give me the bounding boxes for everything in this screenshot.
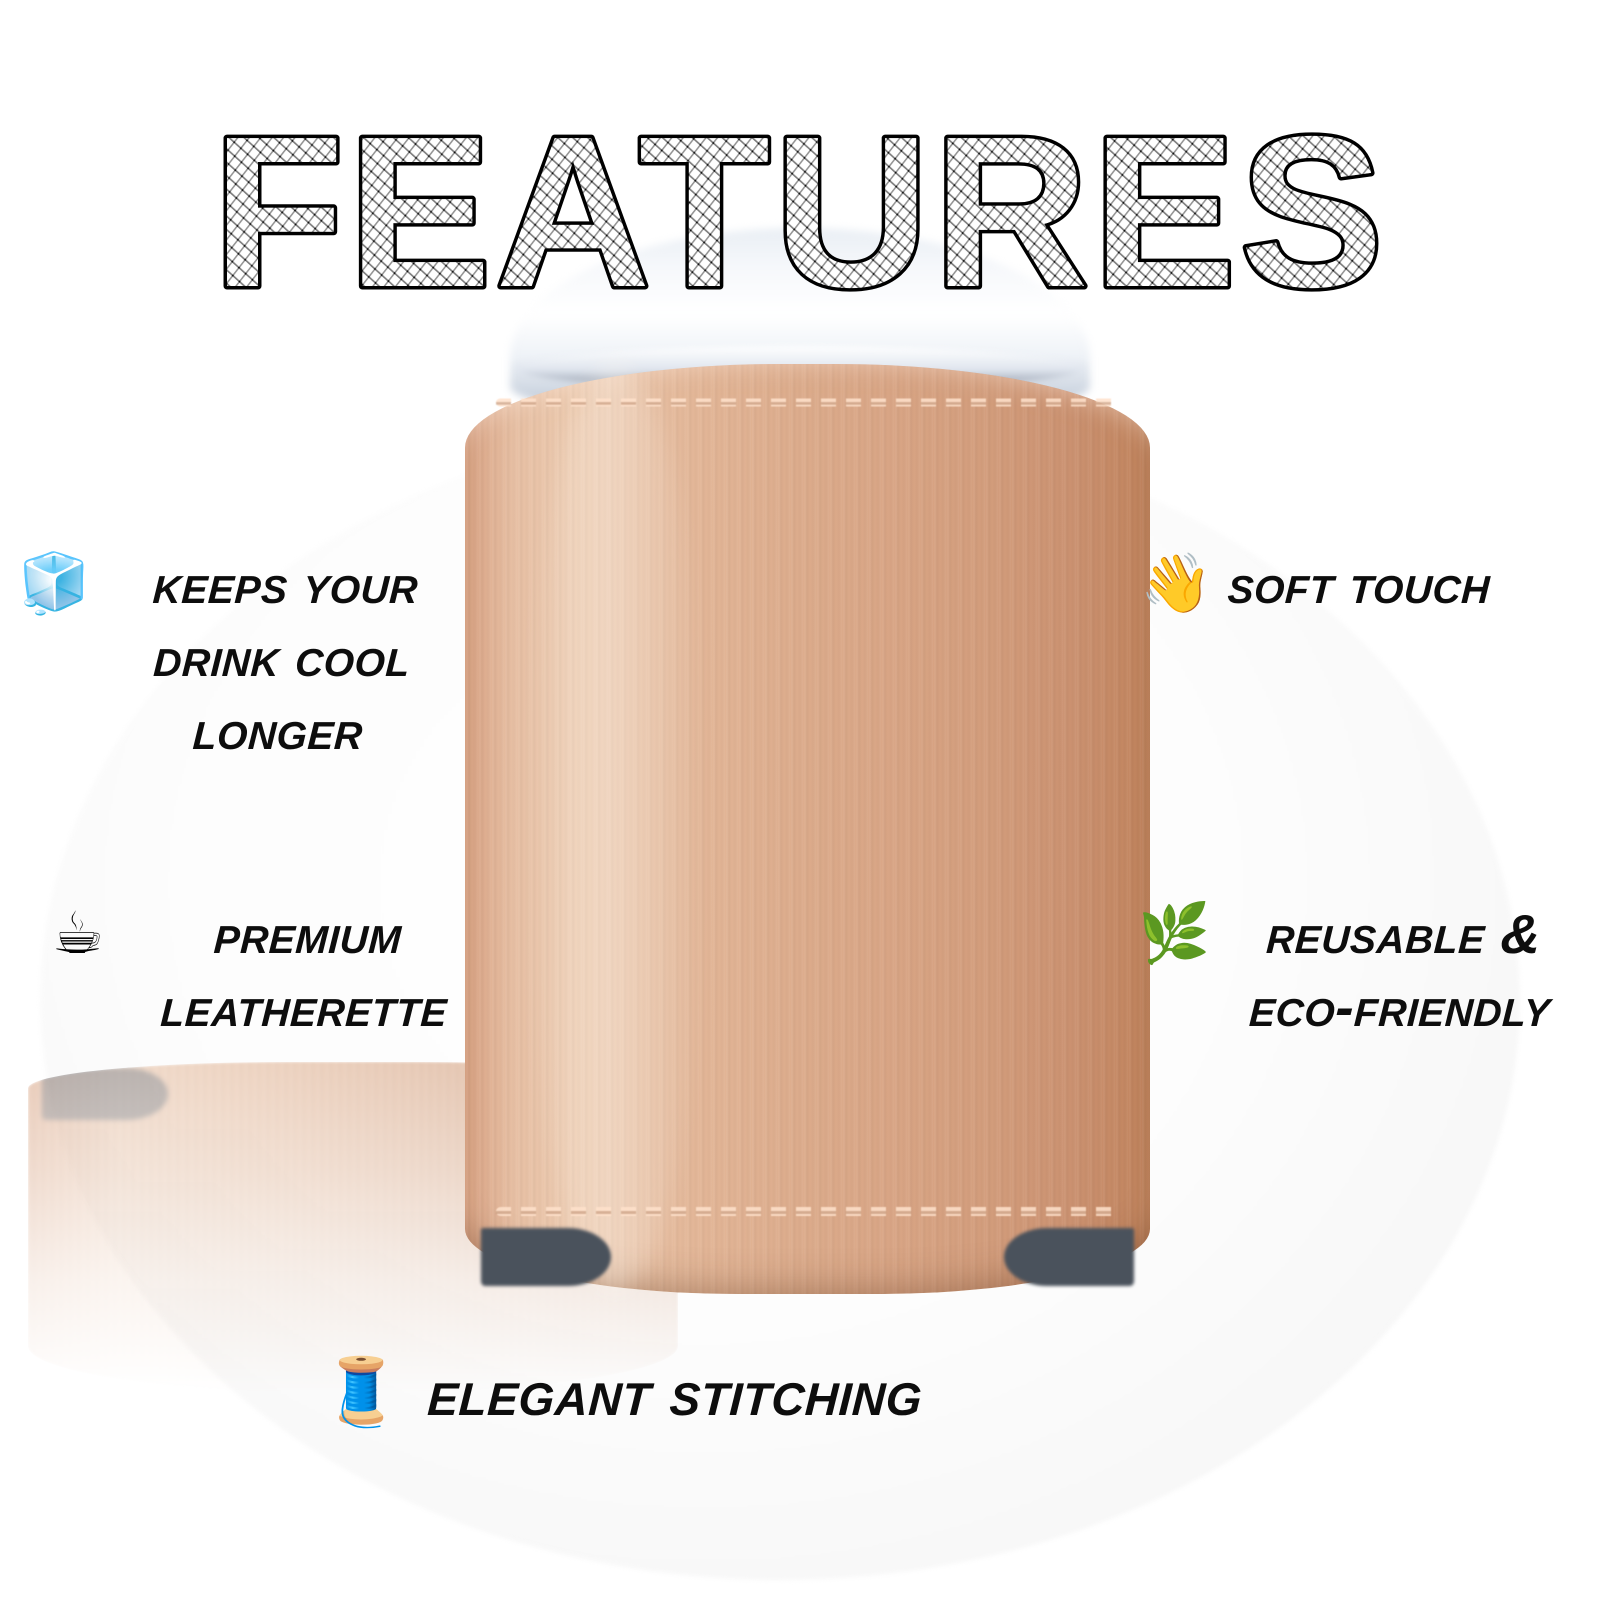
feature-label: Soft Touch (1226, 548, 1492, 621)
feature-reusable-eco-friendly: 🌿 Reusable & Eco-Friendly (1138, 898, 1578, 1044)
infographic-canvas: FEATURES FEATURES 🧊 Keeps Your Drink Coo… (0, 0, 1600, 1600)
feature-label: Premium Leatherette (116, 898, 496, 1044)
feature-premium-leatherette: ☕ Premium Leatherette (52, 898, 492, 1044)
herb-leaf-icon: 🌿 (1138, 904, 1210, 962)
feature-label: Keeps Your Drink Cool longer (100, 548, 463, 767)
bottom-stitching (496, 1207, 1119, 1216)
thread-spool-icon: 🧵 (320, 1359, 402, 1425)
top-stitching (496, 398, 1119, 406)
feature-label: Elegant Stitching (426, 1356, 924, 1429)
leatherette-body (465, 364, 1150, 1294)
reflection-pad-left (42, 1068, 168, 1120)
hot-beverage-icon: ☕ (52, 904, 104, 962)
feature-soft-touch: 👋 Soft Touch (1140, 548, 1580, 621)
can-cooler-sleeve (465, 364, 1150, 1294)
feature-keeps-drink-cool: 🧊 Keeps Your Drink Cool longer (18, 548, 458, 767)
base-pad-right (1004, 1228, 1134, 1286)
ice-cube-icon: 🧊 (18, 554, 90, 612)
feature-label: Reusable & Eco-Friendly (1222, 898, 1581, 1044)
product-image-group (455, 228, 1155, 1348)
base-pad-left (481, 1228, 611, 1286)
feature-elegant-stitching: 🧵 Elegant Stitching (320, 1356, 923, 1429)
waving-hand-icon: 👋 (1140, 554, 1212, 612)
